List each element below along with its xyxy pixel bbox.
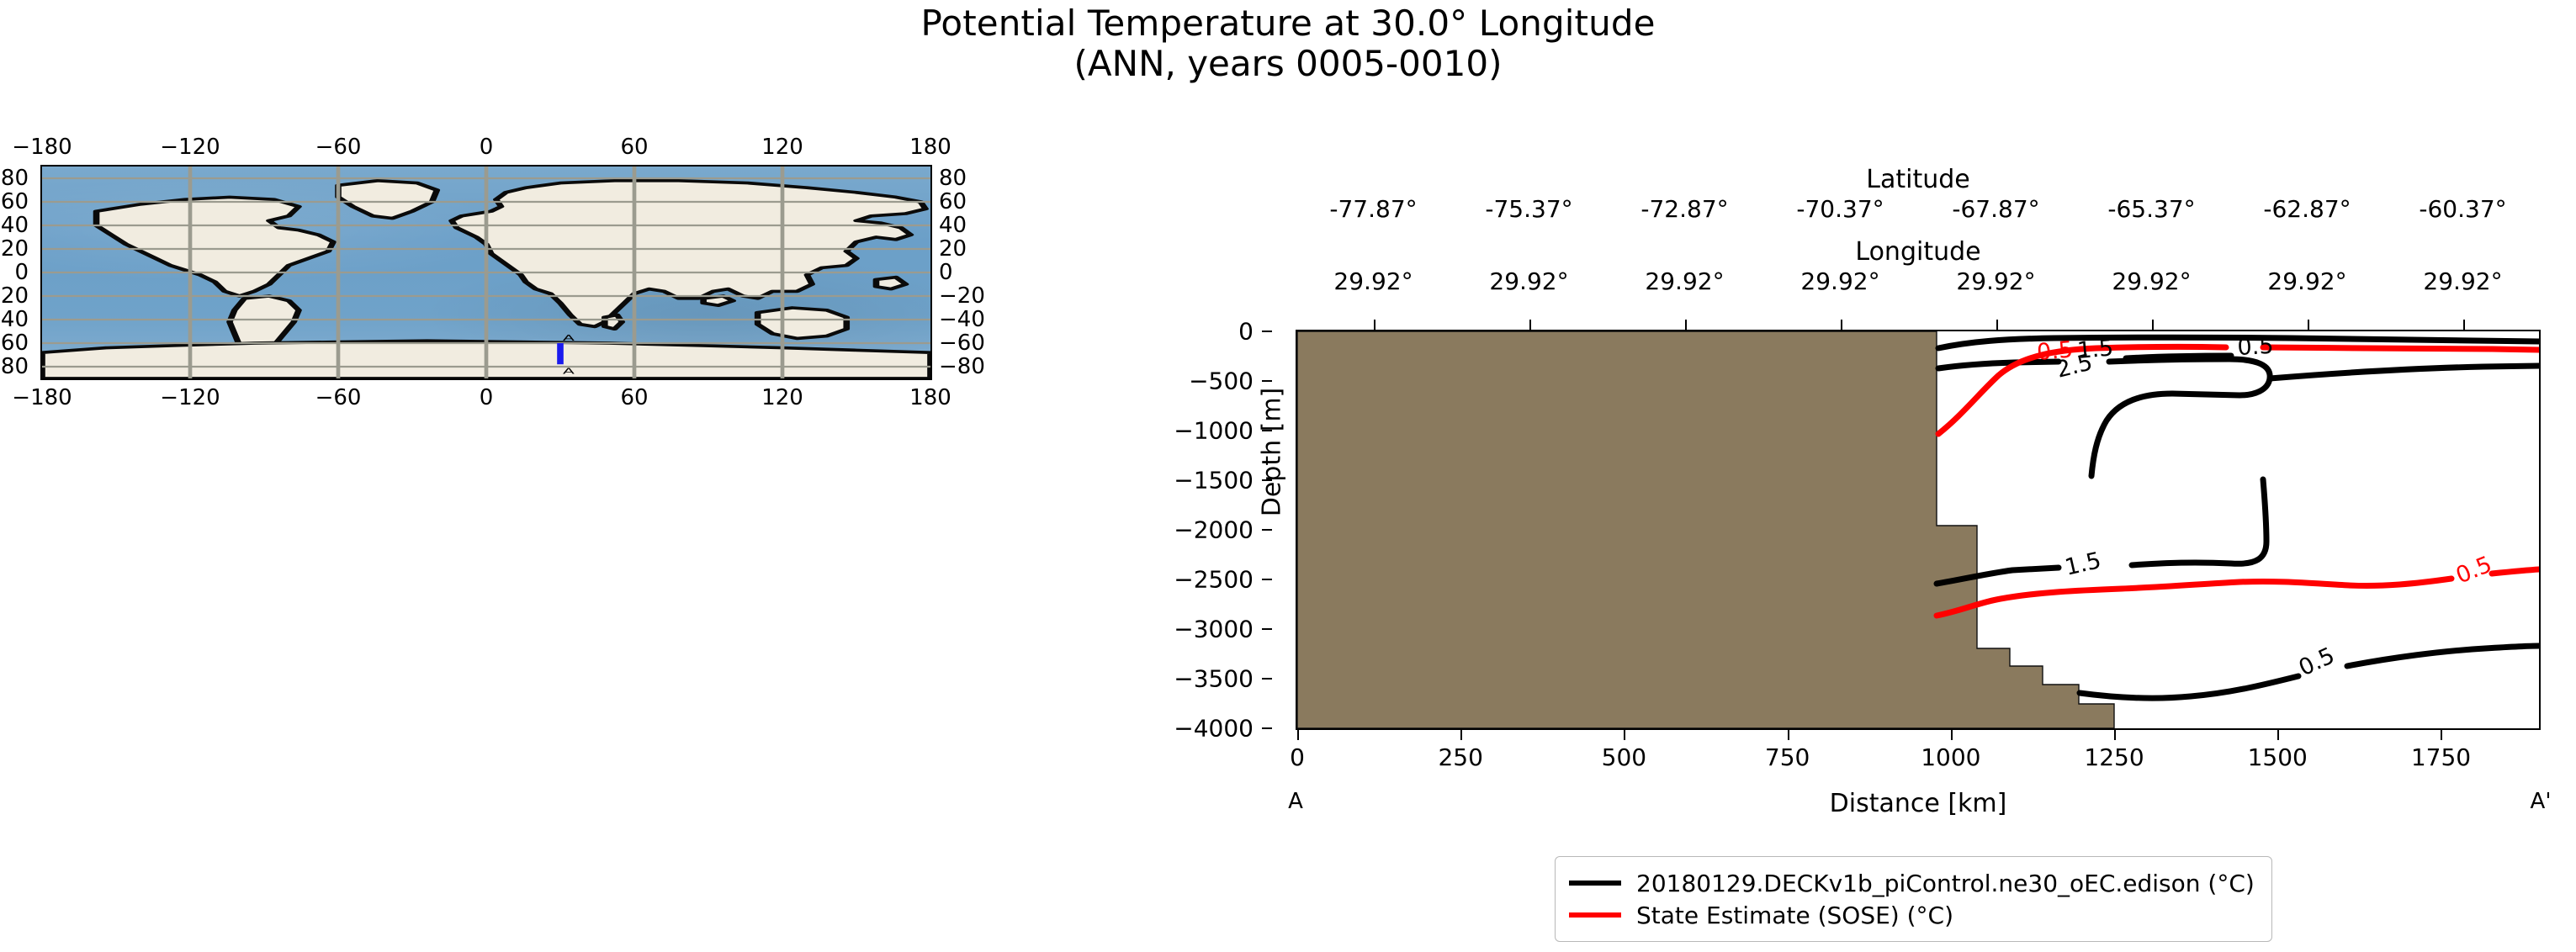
svg-text:A: A (563, 366, 575, 376)
map-lat-tick-label: 40 (1, 213, 29, 238)
map-lon-tick-label: 120 (761, 385, 803, 410)
longitude-tick-label: 29.92° (2112, 267, 2191, 295)
map-lon-tick-label: 180 (909, 135, 951, 160)
latitude-tick-label: -75.37° (1485, 195, 1572, 223)
world-map-panel[interactable]: A A (40, 165, 932, 380)
distance-tick-label: 0 (1290, 743, 1305, 771)
map-lat-tick-label: −60 (0, 331, 29, 356)
longitude-tick-mark (1685, 320, 1687, 330)
distance-tick-mark (2277, 730, 2279, 740)
sose-contours (1937, 346, 2539, 616)
map-lat-tick-label: −80 (0, 354, 29, 379)
transect-line-marker[interactable]: A A (42, 167, 930, 378)
longitude-tick-label: 29.92° (1489, 267, 1568, 295)
depth-tick-mark (1262, 331, 1272, 332)
cross-section-frame: 0.5 1.5 0.5 2.5 1.5 0.5 0.5 (1296, 330, 2541, 730)
distance-tick-label: 750 (1765, 743, 1810, 771)
map-lon-tick-label: −180 (12, 385, 72, 410)
legend-entry[interactable]: 20180129.DECKv1b_piControl.ne30_oEC.edis… (1569, 867, 2255, 899)
map-lon-tick-label: 0 (480, 385, 494, 410)
distance-tick-label: 1250 (2084, 743, 2144, 771)
longitude-tick-label: 29.92° (1956, 267, 2035, 295)
map-lon-tick-label: −120 (160, 135, 220, 160)
depth-tick-label: −2500 (1174, 566, 1254, 594)
map-lat-tick-label: 0 (14, 260, 29, 285)
map-lon-tick-label: −120 (160, 385, 220, 410)
depth-tick-mark (1262, 579, 1272, 580)
map-lat-tick-label: 20 (939, 236, 967, 262)
endpoint-start-label: A (1288, 789, 1303, 814)
cross-section-plot: 0.5 1.5 0.5 2.5 1.5 0.5 0.5 (1297, 331, 2539, 728)
page-subtitle: (ANN, years 0005-0010) (0, 44, 2576, 84)
distance-tick-label: 1000 (1921, 743, 1980, 771)
map-lat-tick-label: −20 (0, 283, 29, 309)
latitude-tick-label: -62.87° (2263, 195, 2351, 223)
legend-color-swatch (1569, 912, 1621, 918)
depth-tick-label: 0 (1238, 318, 1254, 346)
depth-tick-mark (1262, 628, 1272, 630)
map-lon-tick-label: 0 (480, 135, 494, 160)
map-lon-tick-label: −60 (315, 135, 362, 160)
contour-label-black-1p5-mid: 1.5 (2063, 547, 2104, 581)
map-lat-tick-label: 60 (939, 189, 967, 214)
latitude-tick-label: -60.37° (2419, 195, 2506, 223)
model-contours (1937, 337, 2539, 698)
depth-tick-mark (1262, 678, 1272, 680)
latitude-tick-label: -77.87° (1329, 195, 1417, 223)
distance-tick-label: 500 (1602, 743, 1646, 771)
contour-label-red-0p5-mid: 0.5 (2452, 552, 2495, 590)
longitude-tick-mark (2152, 320, 2154, 330)
depth-tick-mark (1262, 727, 1272, 729)
latitude-axis-label: Latitude (1296, 165, 2541, 194)
map-lon-tick-label: 180 (909, 385, 951, 410)
depth-tick-label: −500 (1189, 368, 1254, 395)
endpoint-end-label: A' (2531, 789, 2552, 814)
bathymetry-mask (1297, 331, 2114, 728)
map-lon-tick-label: 120 (761, 135, 803, 160)
longitude-tick-mark (1841, 320, 1842, 330)
map-lat-tick-label: −60 (939, 331, 985, 356)
figure-canvas: Potential Temperature at 30.0° Longitude… (0, 0, 2576, 952)
longitude-tick-label: 29.92° (1645, 267, 1724, 295)
latitude-tick-label: -65.37° (2107, 195, 2195, 223)
distance-axis-label: Distance [km] (1296, 789, 2541, 818)
map-lat-tick-label: −40 (939, 307, 985, 332)
longitude-tick-mark (1996, 320, 1998, 330)
longitude-axis-label: Longitude (1296, 237, 2541, 267)
depth-tick-label: −1500 (1174, 467, 1254, 495)
latitude-tick-label: -70.37° (1796, 195, 1884, 223)
map-lat-tick-label: −20 (939, 283, 985, 309)
map-lat-tick-label: −80 (939, 354, 985, 379)
longitude-tick-mark (2308, 320, 2309, 330)
map-lat-tick-label: 20 (1, 236, 29, 262)
svg-text:A: A (563, 333, 575, 343)
depth-tick-label: −4000 (1174, 715, 1254, 743)
legend-entry[interactable]: State Estimate (SOSE) (°C) (1569, 899, 2255, 931)
distance-tick-mark (1951, 730, 1953, 740)
map-lat-tick-label: 80 (939, 166, 967, 191)
distance-tick-mark (1460, 730, 1462, 740)
longitude-tick-label: 29.92° (1333, 267, 1413, 295)
map-lat-tick-label: −40 (0, 307, 29, 332)
contour-label-black-0p5-deep: 0.5 (2295, 643, 2339, 681)
map-lat-tick-label: 40 (939, 213, 967, 238)
distance-tick-label: 250 (1438, 743, 1482, 771)
map-lat-tick-label: 60 (1, 189, 29, 214)
map-lon-tick-label: −180 (12, 135, 72, 160)
distance-tick-label: 1500 (2248, 743, 2308, 771)
distance-tick-mark (2441, 730, 2442, 740)
cross-section-panel[interactable]: 0.5 1.5 0.5 2.5 1.5 0.5 0.5 (1296, 330, 2541, 730)
longitude-tick-mark (1529, 320, 1531, 330)
legend[interactable]: 20180129.DECKv1b_piControl.ne30_oEC.edis… (1555, 856, 2272, 942)
distance-tick-mark (1788, 730, 1789, 740)
map-lon-tick-label: −60 (315, 385, 362, 410)
latitude-tick-label: -72.87° (1640, 195, 1728, 223)
depth-tick-label: −1000 (1174, 417, 1254, 445)
depth-tick-label: −2000 (1174, 516, 1254, 544)
depth-tick-label: −3500 (1174, 665, 1254, 693)
longitude-tick-label: 29.92° (2267, 267, 2346, 295)
map-lat-tick-label: 0 (939, 260, 953, 285)
distance-tick-label: 1750 (2411, 743, 2471, 771)
longitude-tick-label: 29.92° (2423, 267, 2502, 295)
longitude-tick-mark (1374, 320, 1375, 330)
map-lat-tick-label: 80 (1, 166, 29, 191)
distance-tick-mark (2114, 730, 2116, 740)
figure-title-block: Potential Temperature at 30.0° Longitude… (0, 3, 2576, 84)
distance-tick-mark (1624, 730, 1625, 740)
distance-tick-mark (1297, 730, 1299, 740)
depth-tick-label: −3000 (1174, 616, 1254, 643)
map-frame: A A (40, 165, 932, 380)
legend-entry-label: State Estimate (SOSE) (°C) (1636, 902, 1953, 929)
map-lon-tick-label: 60 (620, 385, 648, 410)
longitude-tick-mark (2463, 320, 2465, 330)
legend-entry-label: 20180129.DECKv1b_piControl.ne30_oEC.edis… (1636, 870, 2255, 897)
depth-axis-label: Depth [m] (1258, 352, 1287, 553)
contour-label-black-0p5-surface: 0.5 (2237, 333, 2275, 361)
longitude-tick-label: 29.92° (1800, 267, 1879, 295)
latitude-tick-label: -67.87° (1952, 195, 2039, 223)
map-lon-tick-label: 60 (620, 135, 648, 160)
page-title: Potential Temperature at 30.0° Longitude (0, 3, 2576, 44)
legend-color-swatch (1569, 881, 1621, 886)
